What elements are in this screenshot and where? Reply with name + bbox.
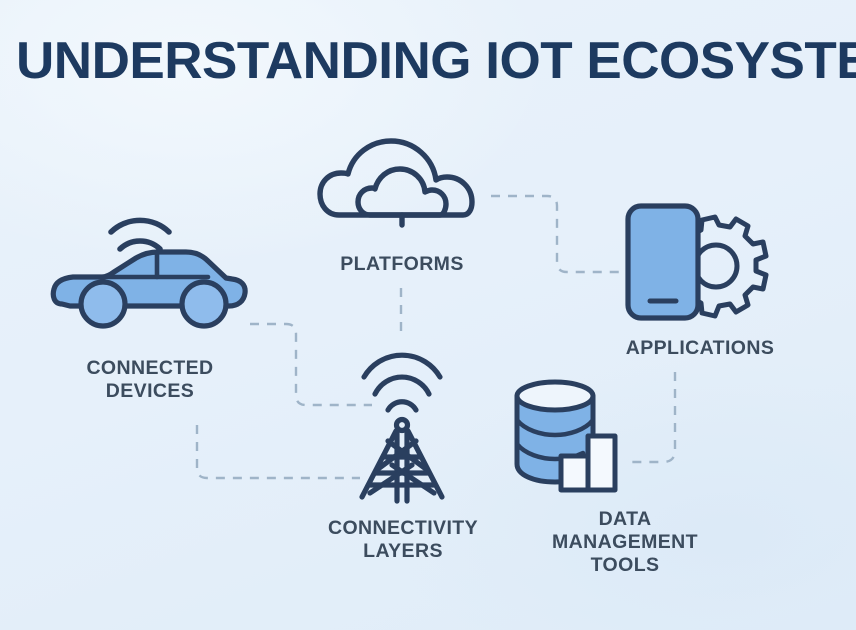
connector-devices-to-connectivity-base [197,425,360,478]
database-barchart-icon [505,378,640,498]
smartphone-gear-icon [620,200,775,325]
node-label-applications: APPLICATIONS [580,337,820,360]
node-label-platforms: PLATFORMS [292,253,512,276]
node-label-data-management-tools: DATA MANAGEMENT TOOLS [500,508,750,577]
infographic-canvas: UNDERSTANDING IOT ECOSYSTEMS [0,0,856,630]
car-with-wifi-icon [40,196,255,341]
node-label-connectivity-layers: CONNECTIVITY LAYERS [288,517,518,563]
node-connectivity-layers[interactable] [340,345,465,505]
node-label-connected-devices: CONNECTED DEVICES [30,357,270,403]
node-connected-devices[interactable] [40,196,255,341]
cloud-icon [315,132,495,227]
cell-tower-icon [340,345,465,505]
node-applications[interactable] [620,200,775,325]
node-platforms[interactable] [315,132,495,227]
node-data-management-tools[interactable] [505,378,640,498]
